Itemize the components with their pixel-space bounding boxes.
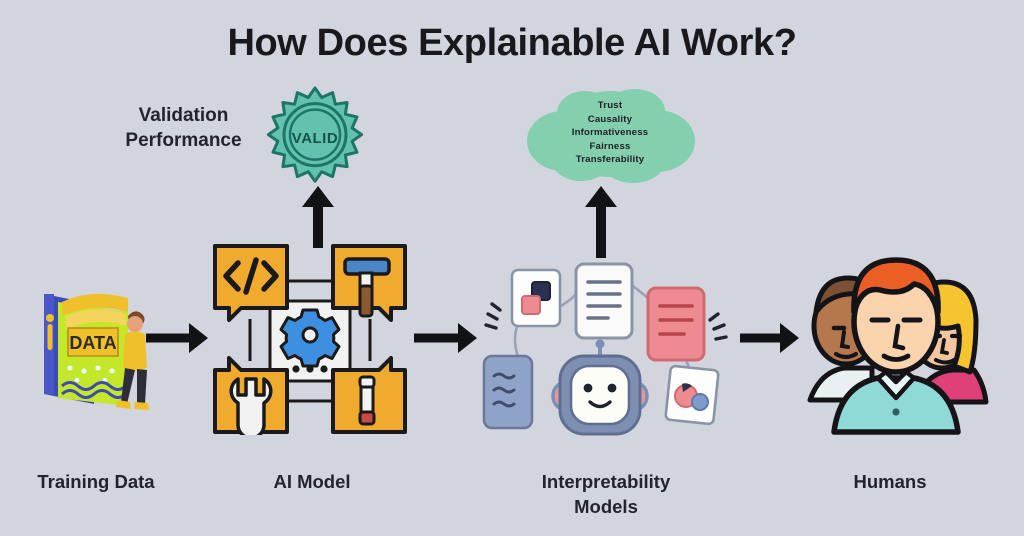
humans-icon	[792, 250, 990, 440]
stage-label-ai-model: AI Model	[224, 470, 400, 495]
svg-text:DATA: DATA	[69, 333, 116, 353]
validation-label-line2: Performance	[96, 128, 271, 153]
data-book-icon: DATA	[32, 272, 156, 418]
wrench-tile	[215, 358, 287, 435]
cloud-item-2: Informativeness	[515, 126, 705, 140]
red-document-card	[648, 288, 704, 360]
screwdriver-tile	[333, 358, 405, 432]
stage-label-humans: Humans	[800, 470, 980, 495]
training-data-icon: DATA	[32, 272, 156, 418]
code-tile	[215, 246, 287, 320]
cloud-item-4: Transferability	[515, 153, 705, 167]
arrow-interpretability-to-cloud	[578, 186, 624, 258]
cloud-item-0: Trust	[515, 99, 705, 113]
hammer-tile	[333, 246, 405, 320]
interpretability-models-icon	[478, 262, 734, 438]
cloud-item-1: Causality	[515, 113, 705, 127]
people-group-icon	[792, 250, 990, 440]
ai-model-diagram-icon	[212, 243, 408, 435]
qualities-cloud: Trust Causality Informativeness Fairness…	[515, 85, 705, 185]
gear-icon	[281, 310, 339, 366]
blue-note-card	[484, 356, 532, 428]
robot-documents-icon	[478, 262, 734, 438]
ai-model-icon	[212, 243, 408, 435]
validation-performance-label: Validation Performance	[96, 103, 271, 154]
valid-badge: VALID	[263, 86, 367, 186]
page-title: How Does Explainable AI Work?	[0, 22, 1024, 65]
robot-face-icon	[553, 340, 647, 435]
stage-label-training-data: Training Data	[8, 470, 184, 495]
valid-badge-text: VALID	[263, 130, 367, 147]
infographic-canvas: How Does Explainable AI Work? Validation…	[0, 0, 1024, 536]
arrow-model-to-interpretability	[414, 322, 478, 354]
white-chart-card	[665, 366, 718, 425]
arrow-interpretability-to-humans	[740, 322, 800, 354]
stage-label-interpretability-models: Interpretability Models	[496, 470, 716, 520]
white-squares-card	[512, 270, 560, 326]
validation-label-line1: Validation	[96, 103, 271, 128]
cloud-item-3: Fairness	[515, 140, 705, 154]
interpretability-label-line2: Models	[496, 495, 716, 520]
interpretability-label-line1: Interpretability	[496, 470, 716, 495]
arrow-model-to-validation	[295, 186, 341, 248]
white-document-card	[576, 264, 632, 338]
cloud-items: Trust Causality Informativeness Fairness…	[515, 99, 705, 167]
